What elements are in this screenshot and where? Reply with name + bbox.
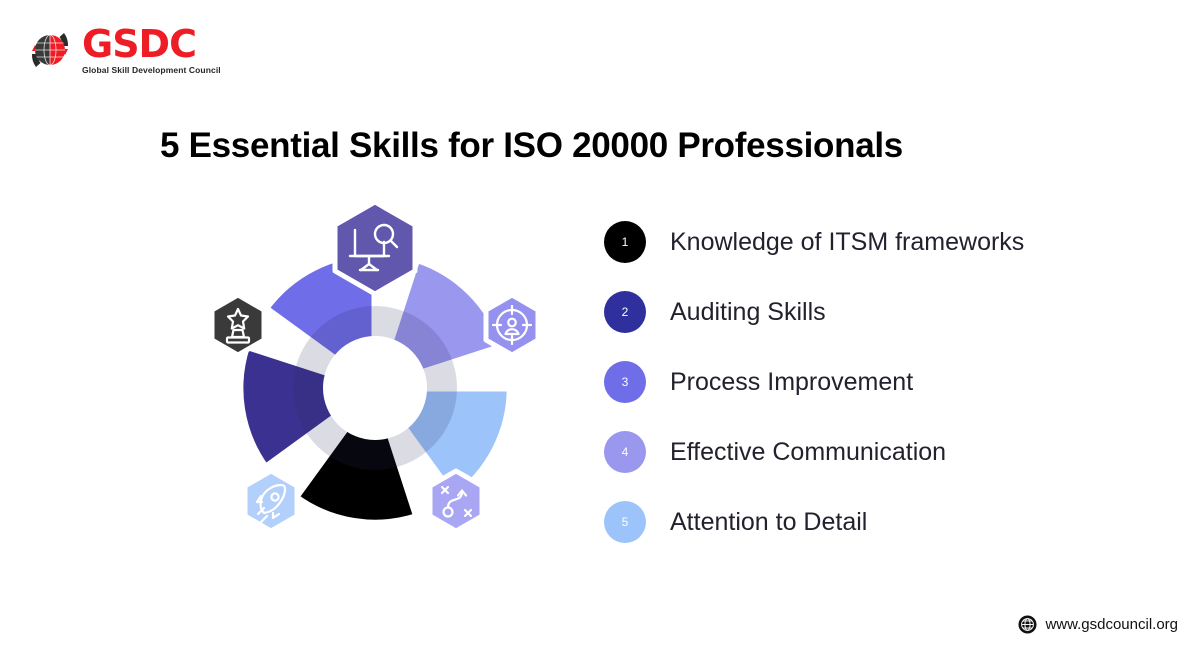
footer-url[interactable]: www.gsdcouncil.org: [1045, 616, 1178, 633]
legend-badge-5: 5: [604, 501, 646, 543]
legend-badge-2: 2: [604, 291, 646, 333]
wheel-segment-5-number: 5: [299, 457, 311, 480]
page-title: 5 Essential Skills for ISO 20000 Profess…: [160, 126, 903, 166]
brand-logo: GSDC Global Skill Development Council: [24, 24, 221, 76]
legend-label-2: Auditing Skills: [670, 298, 826, 327]
wheel-badge-3[interactable]: [486, 295, 538, 355]
wheel-badge-1[interactable]: [212, 295, 264, 355]
globe-icon: [1018, 615, 1037, 634]
legend-label-1: Knowledge of ITSM frameworks: [670, 228, 1024, 257]
list-item[interactable]: 5 Attention to Detail: [604, 498, 1124, 546]
gsdc-globe-icon: [24, 24, 76, 76]
legend-badge-3: 3: [604, 361, 646, 403]
wheel-badge-5[interactable]: [245, 471, 297, 531]
legend-label-4: Effective Communication: [670, 438, 946, 467]
list-item[interactable]: 2 Auditing Skills: [604, 288, 1124, 336]
wheel-badge-2[interactable]: [335, 202, 415, 294]
wheel-svg: 1 2 3 4 5: [165, 190, 585, 580]
logo-wordmark: GSDC: [82, 25, 221, 63]
wheel-badge-4[interactable]: [430, 471, 482, 531]
logo-text-block: GSDC Global Skill Development Council: [82, 25, 221, 75]
list-item[interactable]: 4 Effective Communication: [604, 428, 1124, 476]
list-item[interactable]: 3 Process Improvement: [604, 358, 1124, 406]
legend-label-3: Process Improvement: [670, 368, 913, 397]
legend-label-5: Attention to Detail: [670, 508, 867, 537]
wheel-center-hole: [323, 336, 427, 440]
list-item[interactable]: 1 Knowledge of ITSM frameworks: [604, 218, 1124, 266]
logo-tagline: Global Skill Development Council: [82, 66, 221, 75]
skills-wheel: 1 2 3 4 5: [165, 190, 585, 580]
legend-badge-4: 4: [604, 431, 646, 473]
skills-legend: 1 Knowledge of ITSM frameworks 2 Auditin…: [604, 218, 1124, 568]
footer: www.gsdcouncil.org: [1018, 615, 1178, 634]
legend-badge-1: 1: [604, 221, 646, 263]
